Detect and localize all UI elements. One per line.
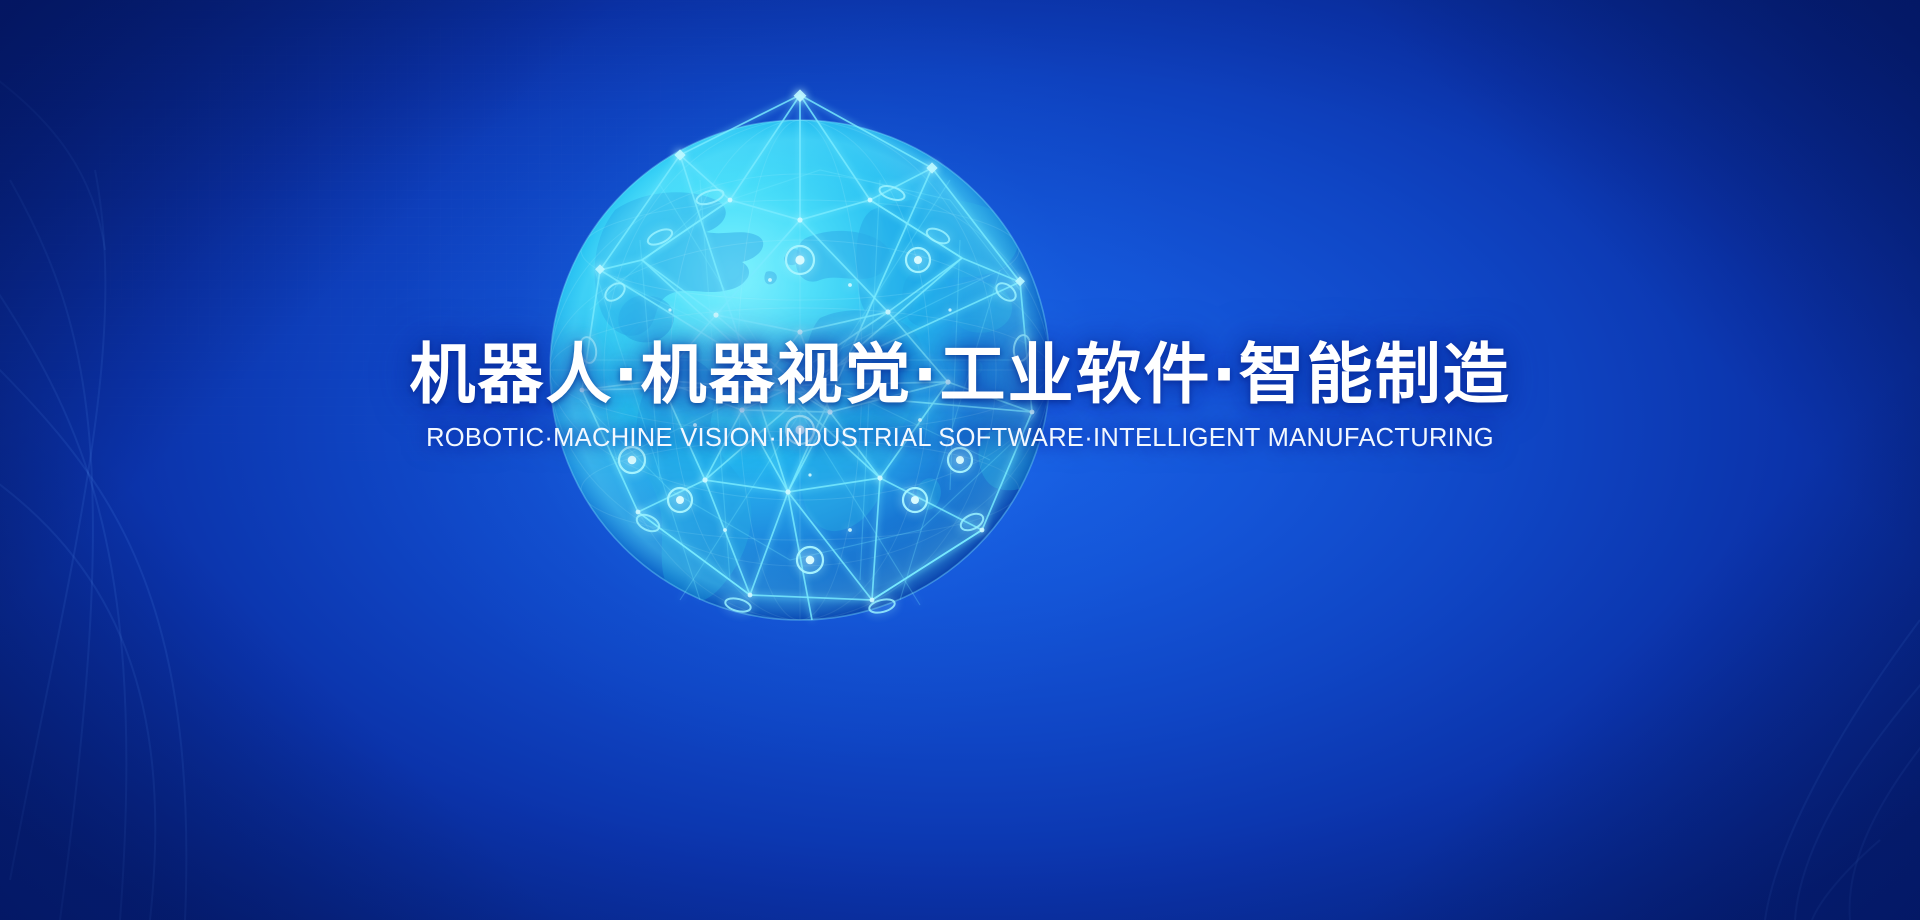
background-vignette (0, 0, 1920, 920)
banner-stage: 机器人·机器视觉·工业软件·智能制造 ROBOTIC·MACHINE VISIO… (0, 0, 1920, 920)
